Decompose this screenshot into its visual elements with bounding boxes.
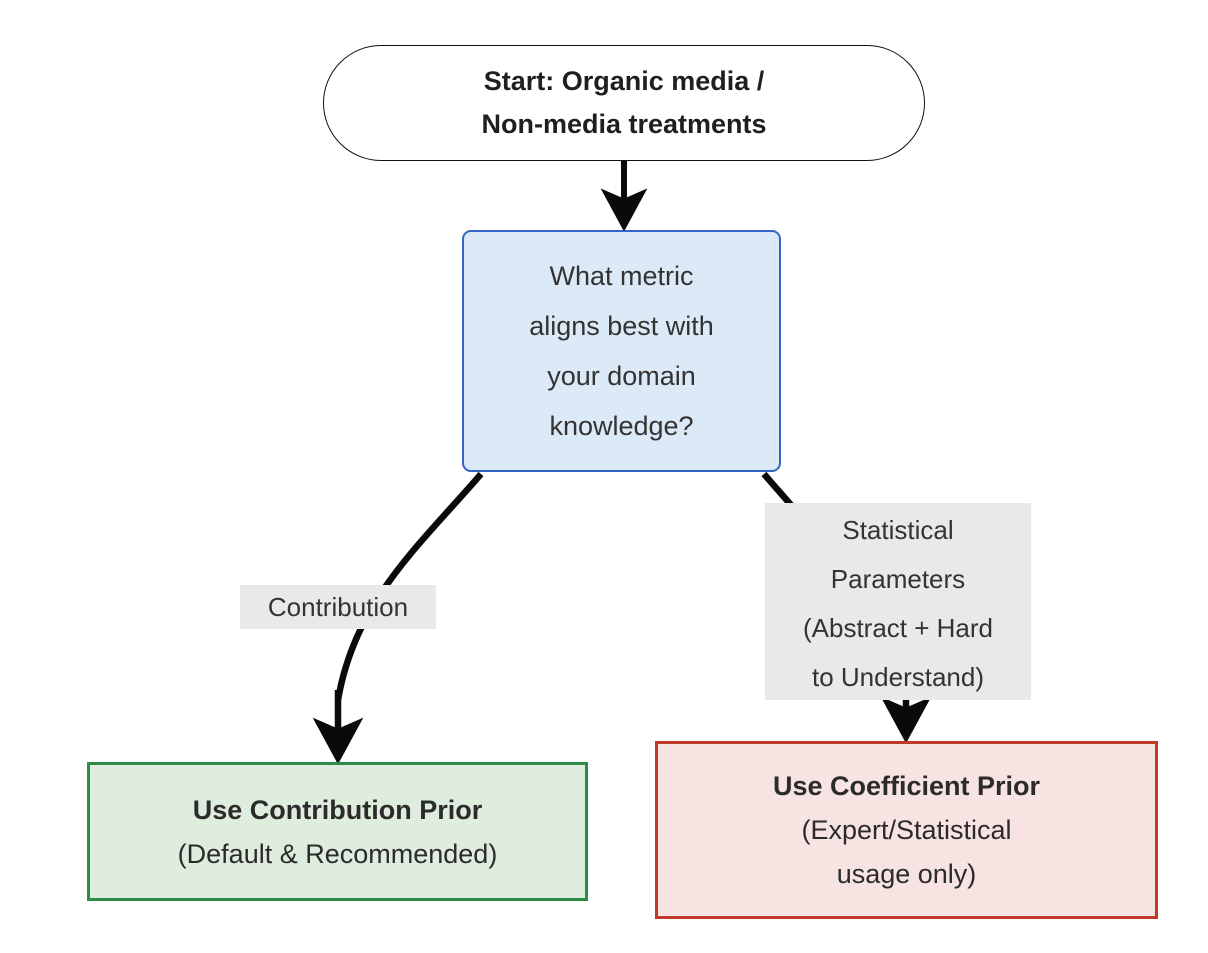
node-contribution-line-1: Use Contribution Prior [193,788,483,832]
node-coefficient-line-2: (Expert/Statistical [801,808,1011,852]
node-start-line-2: Non-media treatments [481,103,766,146]
edge-label-statistical-line-3: (Abstract + Hard [765,604,1031,653]
node-decision-line-2: aligns best with [529,301,714,351]
edge-label-contribution: Contribution [240,585,436,629]
node-decision-line-3: your domain [547,351,696,401]
node-start[interactable]: Start: Organic media / Non-media treatme… [323,45,925,161]
node-use-coefficient-prior[interactable]: Use Coefficient Prior (Expert/Statistica… [655,741,1158,919]
edge-label-statistical-line-2: Parameters [765,555,1031,604]
node-contribution-line-2: (Default & Recommended) [178,832,498,876]
edge-label-statistical-line-4: to Understand) [765,653,1031,702]
node-decision-metric-alignment[interactable]: What metric aligns best with your domain… [462,230,781,472]
node-start-line-1: Start: Organic media / [484,60,765,103]
flowchart-canvas: Contribution Statistical Parameters (Abs… [0,0,1208,953]
edge-label-statistical-line-1: Statistical [765,506,1031,555]
node-use-contribution-prior[interactable]: Use Contribution Prior (Default & Recomm… [87,762,588,901]
node-coefficient-line-3: usage only) [837,852,977,896]
node-decision-line-1: What metric [549,251,693,301]
edge-label-statistical-parameters: Statistical Parameters (Abstract + Hard … [765,503,1031,700]
node-decision-line-4: knowledge? [549,401,693,451]
node-coefficient-line-1: Use Coefficient Prior [773,764,1040,808]
